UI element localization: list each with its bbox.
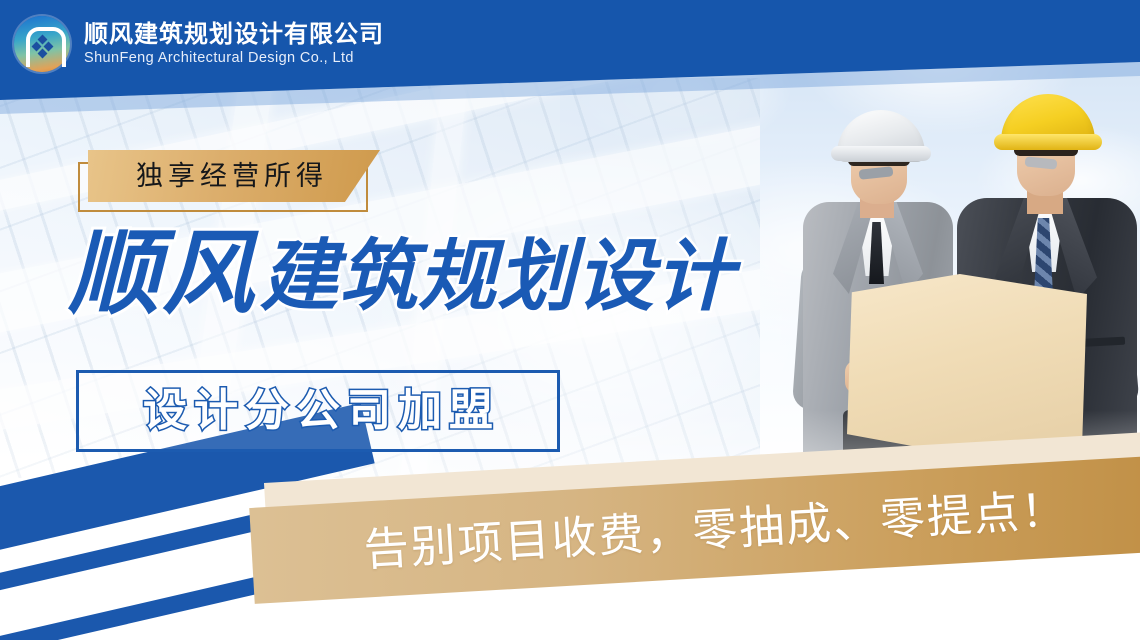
company-name-cn: 顺风建筑规划设计有限公司 (84, 21, 384, 49)
subtitle-label: 设计分公司加盟 (136, 389, 500, 433)
subtitle-box: 设计分公司加盟 (76, 370, 560, 452)
white-hardhat-icon (837, 110, 925, 162)
company-name-block: 顺风建筑规划设计有限公司 ShunFeng Architectural Desi… (84, 21, 384, 68)
gold-tag-fill: 独享经营所得 (88, 150, 380, 202)
yellow-hardhat-icon (1001, 94, 1095, 150)
headline-service: 建筑规划设计 (260, 237, 734, 315)
promotional-banner: 顺风建筑规划设计有限公司 ShunFeng Architectural Desi… (0, 0, 1140, 640)
shunfeng-arch-badge-icon (14, 16, 70, 72)
bottom-banner-label: 告别项目收费，零抽成、零提点！ (363, 487, 1069, 573)
company-name-en: ShunFeng Architectural Design Co., Ltd (84, 50, 384, 67)
company-logo-row[interactable]: 顺风建筑规划设计有限公司 ShunFeng Architectural Desi… (14, 16, 384, 72)
blueprint-sheet (847, 274, 1087, 456)
gold-tag-label: 独享经营所得 (136, 163, 328, 190)
headline-brand: 顺风 (68, 228, 256, 320)
headline: 顺风 建筑规划设计 (68, 228, 734, 320)
